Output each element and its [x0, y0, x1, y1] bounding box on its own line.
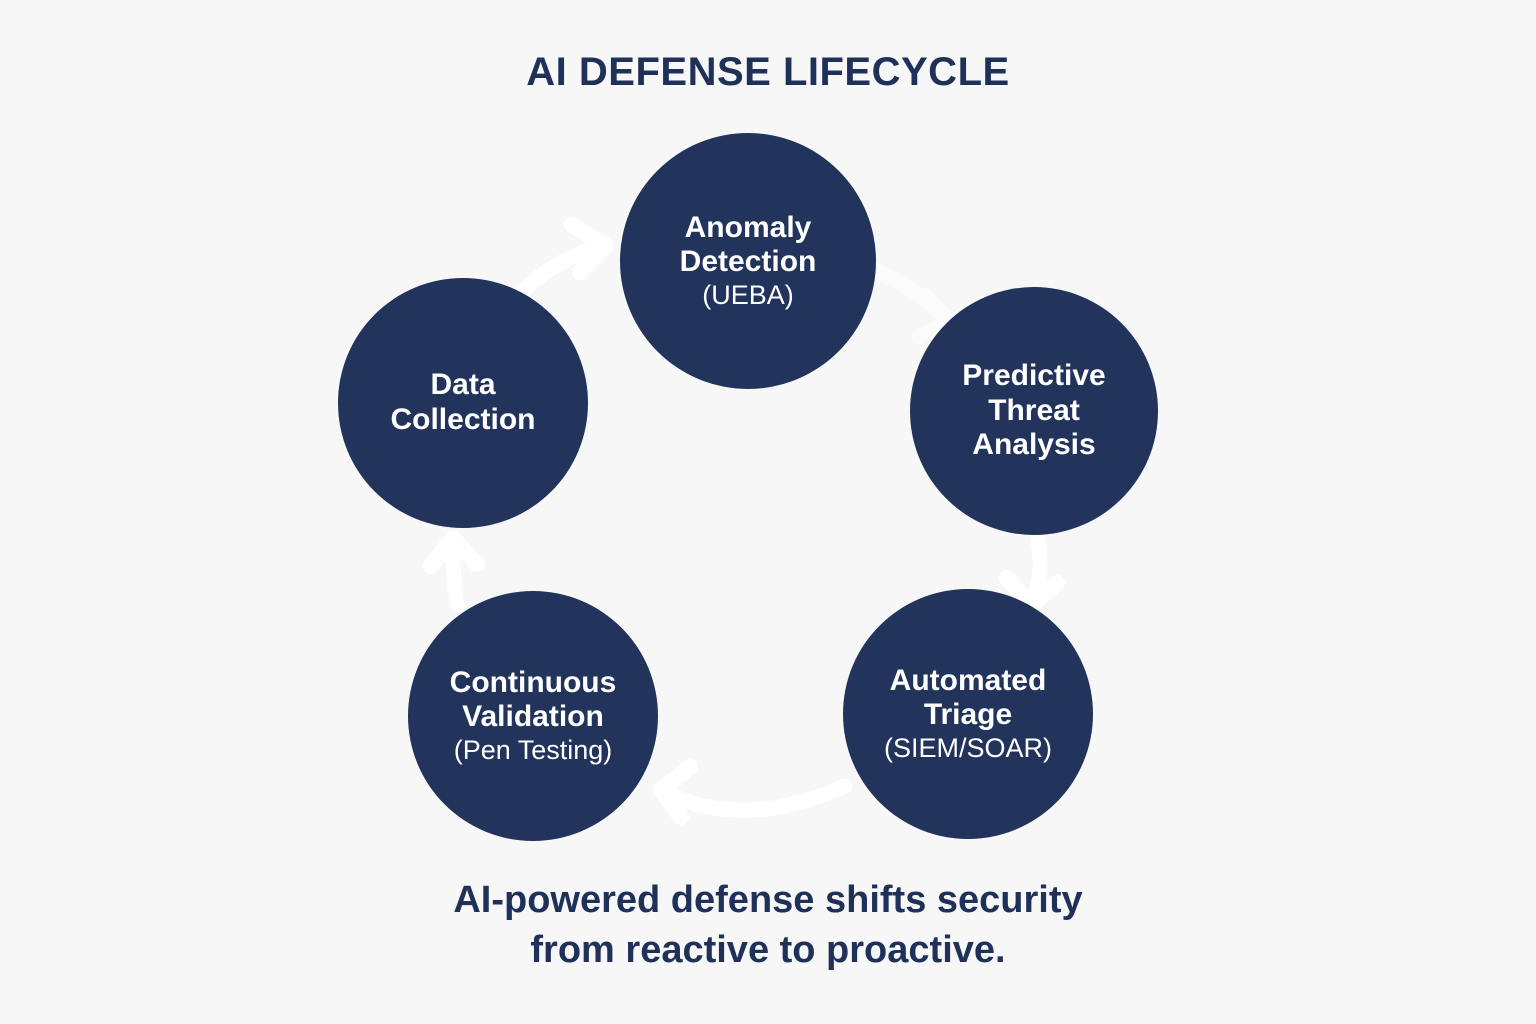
node-anomaly-detection-subtitle: (UEBA) — [694, 280, 802, 311]
node-automated-triage[interactable]: Automated Triage (SIEM/SOAR) — [843, 589, 1093, 839]
arrow-predictive-threat-analysis-to-automated-triage — [1007, 540, 1057, 606]
caption: AI-powered defense shifts security from … — [0, 875, 1536, 975]
node-data-collection[interactable]: Data Collection — [338, 278, 588, 528]
node-continuous-validation-subtitle: (Pen Testing) — [446, 735, 621, 766]
caption-line-1: AI-powered defense shifts security — [0, 875, 1536, 925]
arrow-continuous-validation-to-data-collection — [431, 538, 477, 604]
node-data-collection-line2: Collection — [374, 403, 551, 438]
caption-line-2: from reactive to proactive. — [0, 925, 1536, 975]
arrow-anomaly-detection-to-predictive-threat-analysis — [866, 267, 950, 337]
diagram-canvas: AI DEFENSE LIFECYCLE — [0, 0, 1536, 1024]
node-anomaly-detection-line2: Detection — [664, 245, 833, 280]
node-predictive-threat-analysis-line2: Threat — [972, 394, 1096, 429]
node-predictive-threat-analysis-line3: Analysis — [956, 428, 1111, 463]
node-anomaly-detection[interactable]: Anomaly Detection (UEBA) — [620, 133, 876, 389]
node-data-collection-line1: Data — [414, 368, 511, 403]
node-automated-triage-line1: Automated — [874, 664, 1063, 699]
node-predictive-threat-analysis[interactable]: Predictive Threat Analysis — [910, 287, 1158, 535]
arrow-data-collection-to-anomaly-detection — [524, 225, 606, 290]
page-title: AI DEFENSE LIFECYCLE — [0, 50, 1536, 95]
node-continuous-validation-line1: Continuous — [434, 666, 633, 701]
node-automated-triage-line2: Triage — [908, 698, 1028, 733]
node-predictive-threat-analysis-line1: Predictive — [946, 359, 1121, 394]
arrow-automated-triage-to-continuous-validation — [661, 767, 845, 817]
node-automated-triage-subtitle: (SIEM/SOAR) — [876, 733, 1060, 764]
node-continuous-validation[interactable]: Continuous Validation (Pen Testing) — [408, 591, 658, 841]
node-continuous-validation-line2: Validation — [446, 700, 620, 735]
node-anomaly-detection-line1: Anomaly — [669, 211, 828, 246]
